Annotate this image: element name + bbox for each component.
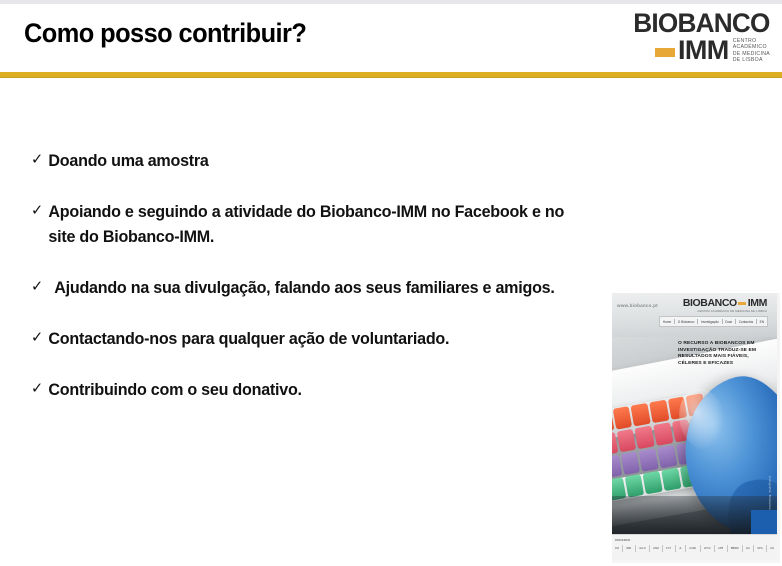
logo-subtitle-line-2: ACADÉMICO: [733, 44, 770, 50]
logo-dash-icon: [655, 48, 675, 57]
poster-logo-imm: IMM: [748, 298, 767, 309]
checkmark-icon: ✓: [31, 376, 43, 401]
partner-separator: [727, 545, 728, 552]
site-url-label: www.biobanco.pt: [617, 303, 658, 308]
bullet-list: ✓ Doando uma amostra ✓ Apoiando e seguin…: [30, 148, 600, 402]
checkmark-icon: ✓: [31, 274, 43, 299]
list-item-label: Doando uma amostra: [48, 151, 208, 170]
poster-logo-dash-icon: [738, 302, 746, 306]
partner-logo: APB: [718, 547, 723, 550]
page-title: Como posso contribuir?: [24, 18, 306, 49]
vial: [639, 448, 659, 472]
vial: [643, 471, 663, 495]
list-item: ✓ Doando uma amostra: [30, 148, 583, 173]
vial: [635, 426, 655, 450]
nav-item-contactos[interactable]: Contactos: [739, 320, 753, 324]
checkmark-icon: ✓: [31, 325, 43, 350]
partner-logo: HSM: [653, 547, 659, 550]
nav-item-investigacao[interactable]: Investigação: [701, 320, 719, 324]
partner-logo: UL: [679, 547, 682, 550]
logo-imm-text: IMM: [678, 37, 729, 64]
list-item-label: Ajudando na sua divulgação, falando aos …: [54, 278, 554, 297]
partner-logo: FM: [615, 547, 619, 550]
partner-separator: [742, 545, 743, 552]
vial: [624, 474, 644, 498]
list-item-label: Apoiando e seguindo a atividade do Bioba…: [48, 202, 564, 246]
poster-logo-subtitle: CENTRO ACADÉMICO DE MEDICINA DE LISBOA: [697, 309, 767, 313]
vial: [620, 451, 640, 475]
poster-canvas: www.biobanco.pt BIOBANCO IMM CENTRO ACAD…: [612, 293, 777, 560]
list-item: ✓ Contactando-nos para qualquer ação de …: [30, 326, 583, 351]
vial: [649, 400, 669, 424]
list-item: ✓ Contribuindo com o seu donativo.: [30, 377, 583, 402]
biobanco-poster-image: www.biobanco.pt BIOBANCO IMM CENTRO ACAD…: [612, 293, 780, 563]
partner-logo-strip: FM IMM CHLN HSM FCT UL CAML LPCC: [615, 545, 774, 552]
nav-separator: [722, 319, 723, 324]
partner-logo: FCT: [666, 547, 671, 550]
partner-logo: CHLN: [639, 547, 646, 550]
checkmark-icon: ✓: [31, 147, 43, 172]
logo-subtitle-line-4: DE LISBOA: [733, 57, 770, 63]
nav-item-home[interactable]: Home: [663, 320, 672, 324]
vial: [657, 445, 677, 469]
partner-logo: SPG: [757, 547, 762, 550]
poster-claim-text: O recurso a biobancos em investigação tr…: [678, 341, 773, 367]
list-item: ✓ Ajudando na sua divulgação, falando ao…: [30, 275, 583, 300]
list-item: ✓ Apoiando e seguindo a atividade do Bio…: [30, 199, 583, 249]
partner-logo: AN: [770, 547, 774, 550]
slide-canvas: Como posso contribuir? BIOBANCO IMM CENT…: [0, 0, 782, 566]
vial: [616, 429, 636, 453]
poster-partner-footer: PARCEIROS FM IMM CHLN HSM FCT UL CAML: [612, 534, 777, 560]
poster-logo-word: BIOBANCO: [683, 298, 737, 309]
partner-logo: LPCC: [704, 547, 711, 550]
partner-separator: [685, 545, 686, 552]
vial: [612, 406, 632, 430]
partner-separator: [714, 545, 715, 552]
poster-logo: BIOBANCO IMM: [683, 298, 767, 309]
partner-logo: CAML: [689, 547, 696, 550]
biobanco-imm-logo: BIOBANCO IMM CENTRO ACADÉMICO DE MEDICIN…: [600, 10, 770, 68]
poster-nav-bar: Home O Biobanco Investigação Doar Contac…: [659, 316, 768, 327]
nav-item-o-biobanco[interactable]: O Biobanco: [678, 320, 695, 324]
nav-separator: [756, 319, 757, 324]
partner-separator: [662, 545, 663, 552]
vial: [631, 403, 651, 427]
nav-separator: [735, 319, 736, 324]
nav-separator: [697, 319, 698, 324]
logo-second-row: IMM CENTRO ACADÉMICO DE MEDICINA DE LISB…: [655, 37, 770, 67]
partner-separator: [753, 545, 754, 552]
nav-separator: [674, 319, 675, 324]
partner-separator: [635, 545, 636, 552]
slide-header: Como posso contribuir? BIOBANCO IMM CENT…: [0, 4, 782, 70]
poster-footer-label: PARCEIROS: [615, 539, 630, 542]
partner-logo: BBMRI: [731, 547, 739, 550]
vial: [661, 468, 681, 492]
list-item-label: Contribuindo com o seu donativo.: [48, 380, 301, 399]
accent-divider: [0, 72, 782, 78]
partner-separator: [649, 545, 650, 552]
poster-site-header: www.biobanco.pt BIOBANCO IMM CENTRO ACAD…: [612, 293, 777, 337]
partner-logo: EU: [746, 547, 750, 550]
partner-separator: [622, 545, 623, 552]
checkmark-icon: ✓: [31, 198, 43, 223]
partner-logo: IMM: [626, 547, 631, 550]
vial: [653, 422, 673, 446]
logo-subtitle: CENTRO ACADÉMICO DE MEDICINA DE LISBOA: [733, 38, 770, 64]
logo-wordmark: BIOBANCO: [634, 10, 770, 37]
poster-blue-accent: [751, 510, 777, 534]
nav-item-doar[interactable]: Doar: [725, 320, 732, 324]
list-item-label: Contactando-nos para qualquer ação de vo…: [48, 329, 449, 348]
partner-separator: [675, 545, 676, 552]
partner-separator: [700, 545, 701, 552]
nav-item-language[interactable]: EN: [760, 320, 764, 324]
partner-separator: [766, 545, 767, 552]
